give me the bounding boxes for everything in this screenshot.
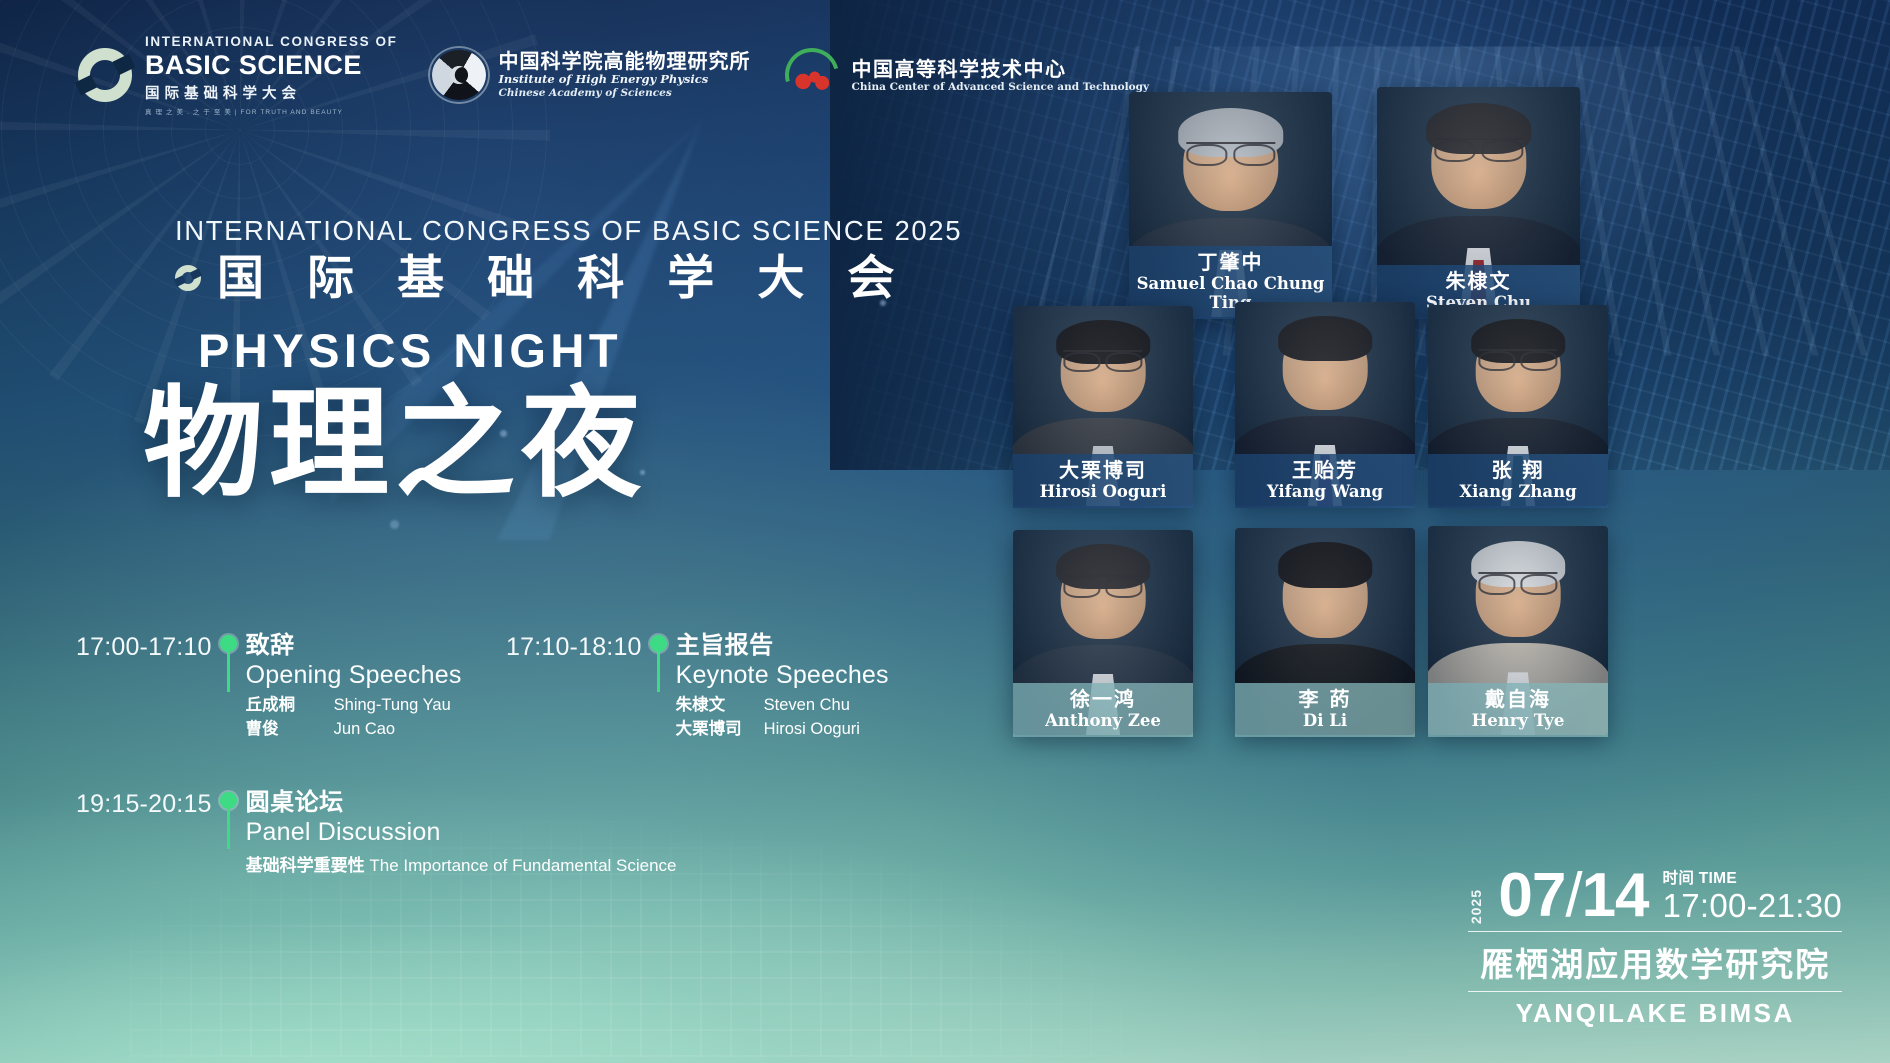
schedule-speaker: 朱棣文 Steven Chu	[676, 694, 889, 717]
schedule-time: 17:00-17:10	[76, 632, 212, 662]
icbs-line-en-main: BASIC SCIENCE	[145, 52, 398, 79]
event-date: 07/14	[1498, 867, 1648, 924]
speaker-name-en: Jun Cao	[334, 718, 395, 741]
congress-title-en: INTERNATIONAL CONGRESS OF BASIC SCIENCE …	[175, 215, 962, 247]
speaker-name-en: Anthony Zee	[1019, 711, 1187, 730]
ccast-arc-icon	[781, 46, 843, 104]
logo-icbs: INTERNATIONAL CONGRESS OF BASIC SCIENCE …	[78, 34, 398, 116]
ihep-name-cn: 中国科学院高能物理研究所	[499, 50, 751, 73]
event-year: 2025	[1468, 885, 1484, 924]
speaker-label: 徐一鸿 Anthony Zee	[1013, 683, 1193, 737]
speaker-gallery: 丁肇中 Samuel Chao Chung Ting 朱棣文 Steven Ch…	[880, 0, 1890, 900]
speaker-name-cn: 朱棣文	[676, 694, 764, 717]
speaker-name-cn: 李 菂	[1241, 688, 1409, 710]
speaker-name-cn: 王贻芳	[1241, 459, 1409, 481]
speaker-card[interactable]: 李 菂 Di Li	[1235, 528, 1415, 735]
ihep-yinyang-icon	[428, 46, 490, 104]
schedule-title-cn: 主旨报告	[676, 632, 889, 660]
schedule-row-2: 19:15-20:15 圆桌论坛 Panel Discussion 基础科学重要…	[76, 789, 906, 876]
schedule-item: 19:15-20:15 圆桌论坛 Panel Discussion 基础科学重要…	[76, 789, 677, 876]
event-title-en: PHYSICS NIGHT	[90, 323, 730, 378]
speaker-name-en: Henry Tye	[1434, 711, 1602, 730]
ccast-name-en: China Center of Advanced Science and Tec…	[852, 81, 1150, 94]
timeline-pin-icon	[642, 632, 676, 692]
event-time: 时间 TIME 17:00-21:30	[1663, 866, 1842, 924]
speaker-name-cn: 徐一鸿	[1019, 688, 1187, 710]
icbs-ring-icon	[78, 48, 132, 102]
icbs-tagline: 真 理 之 美 . 之 于 至 美 | FOR TRUTH AND BEAUTY	[145, 106, 398, 116]
speaker-name-en: Hirosi Ooguri	[1019, 482, 1187, 501]
schedule-title-en: Panel Discussion	[246, 817, 677, 847]
speaker-name-cn: 朱棣文	[1383, 270, 1574, 292]
speaker-name-cn: 曹俊	[246, 718, 334, 741]
schedule-time: 17:10-18:10	[506, 632, 642, 662]
ihep-name-en-2: Chinese Academy of Sciences	[499, 87, 751, 100]
schedule-row-1: 17:00-17:10 致辞 Opening Speeches 丘成桐 Shin…	[76, 632, 906, 741]
timeline-pin-icon	[212, 789, 246, 849]
schedule-speaker: 曹俊 Jun Cao	[246, 718, 462, 741]
schedule-list: 17:00-17:10 致辞 Opening Speeches 丘成桐 Shin…	[76, 632, 906, 876]
speaker-name-cn: 戴自海	[1434, 688, 1602, 710]
congress-title-cn-row: 国 际 基 础 科 学 大 会	[175, 254, 962, 301]
schedule-topic-cn: 基础科学重要性	[246, 856, 365, 875]
speaker-name-en: Di Li	[1241, 711, 1409, 730]
speaker-label: 李 菂 Di Li	[1235, 683, 1415, 737]
speaker-card[interactable]: 丁肇中 Samuel Chao Chung Ting	[1129, 92, 1332, 317]
venue-name-cn: 雁栖湖应用数学研究院	[1468, 931, 1842, 992]
speaker-card[interactable]: 戴自海 Henry Tye	[1428, 526, 1608, 735]
speaker-card[interactable]: 王贻芳 Yifang Wang	[1235, 302, 1415, 506]
schedule-title-cn: 致辞	[246, 632, 462, 660]
schedule-item: 17:10-18:10 主旨报告 Keynote Speeches 朱棣文 St…	[506, 632, 889, 741]
schedule-topic: 基础科学重要性 The Importance of Fundamental Sc…	[246, 851, 677, 876]
speaker-card[interactable]: 大栗博司 Hirosi Ooguri	[1013, 306, 1193, 506]
date-time-row: 2025 07/14 时间 TIME 17:00-21:30	[1468, 866, 1842, 924]
speaker-name-en: Yifang Wang	[1241, 482, 1409, 501]
speaker-card[interactable]: 张 翔 Xiang Zhang	[1428, 305, 1608, 506]
speaker-name-en: Xiang Zhang	[1434, 482, 1602, 501]
speaker-name-cn: 丘成桐	[246, 694, 334, 717]
event-datetime-venue: 2025 07/14 时间 TIME 17:00-21:30 雁栖湖应用数学研究…	[1468, 866, 1842, 1029]
schedule-time: 19:15-20:15	[76, 789, 212, 819]
schedule-speaker: 丘成桐 Shing-Tung Yau	[246, 694, 462, 717]
speaker-card[interactable]: 朱棣文 Steven Chu	[1377, 87, 1580, 317]
speaker-label: 张 翔 Xiang Zhang	[1428, 454, 1608, 508]
logo-bar: INTERNATIONAL CONGRESS OF BASIC SCIENCE …	[78, 34, 1149, 116]
title-block: INTERNATIONAL CONGRESS OF BASIC SCIENCE …	[175, 215, 962, 510]
schedule-speakers: 丘成桐 Shing-Tung Yau 曹俊 Jun Cao	[246, 694, 462, 741]
speaker-label: 大栗博司 Hirosi Ooguri	[1013, 454, 1193, 508]
schedule-item: 17:00-17:10 致辞 Opening Speeches 丘成桐 Shin…	[76, 632, 506, 741]
schedule-title-en: Keynote Speeches	[676, 660, 889, 690]
speaker-card[interactable]: 徐一鸿 Anthony Zee	[1013, 530, 1193, 735]
icbs-line-cn: 国际基础科学大会	[145, 82, 398, 103]
schedule-title-cn: 圆桌论坛	[246, 789, 677, 817]
timeline-pin-icon	[212, 632, 246, 692]
speaker-name-cn: 大栗博司	[676, 718, 764, 741]
schedule-title-en: Opening Speeches	[246, 660, 462, 690]
venue-name-en: YANQILAKE BIMSA	[1468, 998, 1842, 1029]
speaker-label: 戴自海 Henry Tye	[1428, 683, 1608, 737]
schedule-topic-en: The Importance of Fundamental Science	[369, 856, 676, 875]
bokeh-dot	[390, 520, 399, 529]
logo-ccast: 中国高等科学技术中心 China Center of Advanced Scie…	[781, 46, 1150, 104]
poster-canvas: INTERNATIONAL CONGRESS OF BASIC SCIENCE …	[0, 0, 1890, 1063]
icbs-line-en-top: INTERNATIONAL CONGRESS OF	[145, 34, 398, 51]
time-label: 时间 TIME	[1663, 866, 1842, 888]
ccast-name-cn: 中国高等科学技术中心	[852, 57, 1150, 81]
schedule-speaker: 大栗博司 Hirosi Ooguri	[676, 718, 889, 741]
event-title-cn: 物理之夜	[45, 380, 745, 510]
speaker-label: 王贻芳 Yifang Wang	[1235, 454, 1415, 508]
ihep-name-en-1: Institute of High Energy Physics	[499, 73, 751, 87]
speaker-name-en: Shing-Tung Yau	[334, 694, 451, 717]
schedule-speakers: 朱棣文 Steven Chu 大栗博司 Hirosi Ooguri	[676, 694, 889, 741]
speaker-name-cn: 丁肇中	[1135, 251, 1326, 273]
speaker-name-cn: 大栗博司	[1019, 459, 1187, 481]
speaker-name-cn: 张 翔	[1434, 459, 1602, 481]
icbs-ring-icon	[175, 265, 201, 291]
congress-title-cn: 国 际 基 础 科 学 大 会	[217, 254, 909, 301]
speaker-name-en: Hirosi Ooguri	[764, 718, 860, 741]
time-value: 17:00-21:30	[1663, 889, 1842, 922]
logo-ihep: 中国科学院高能物理研究所 Institute of High Energy Ph…	[428, 46, 751, 104]
speaker-name-en: Steven Chu	[764, 694, 850, 717]
